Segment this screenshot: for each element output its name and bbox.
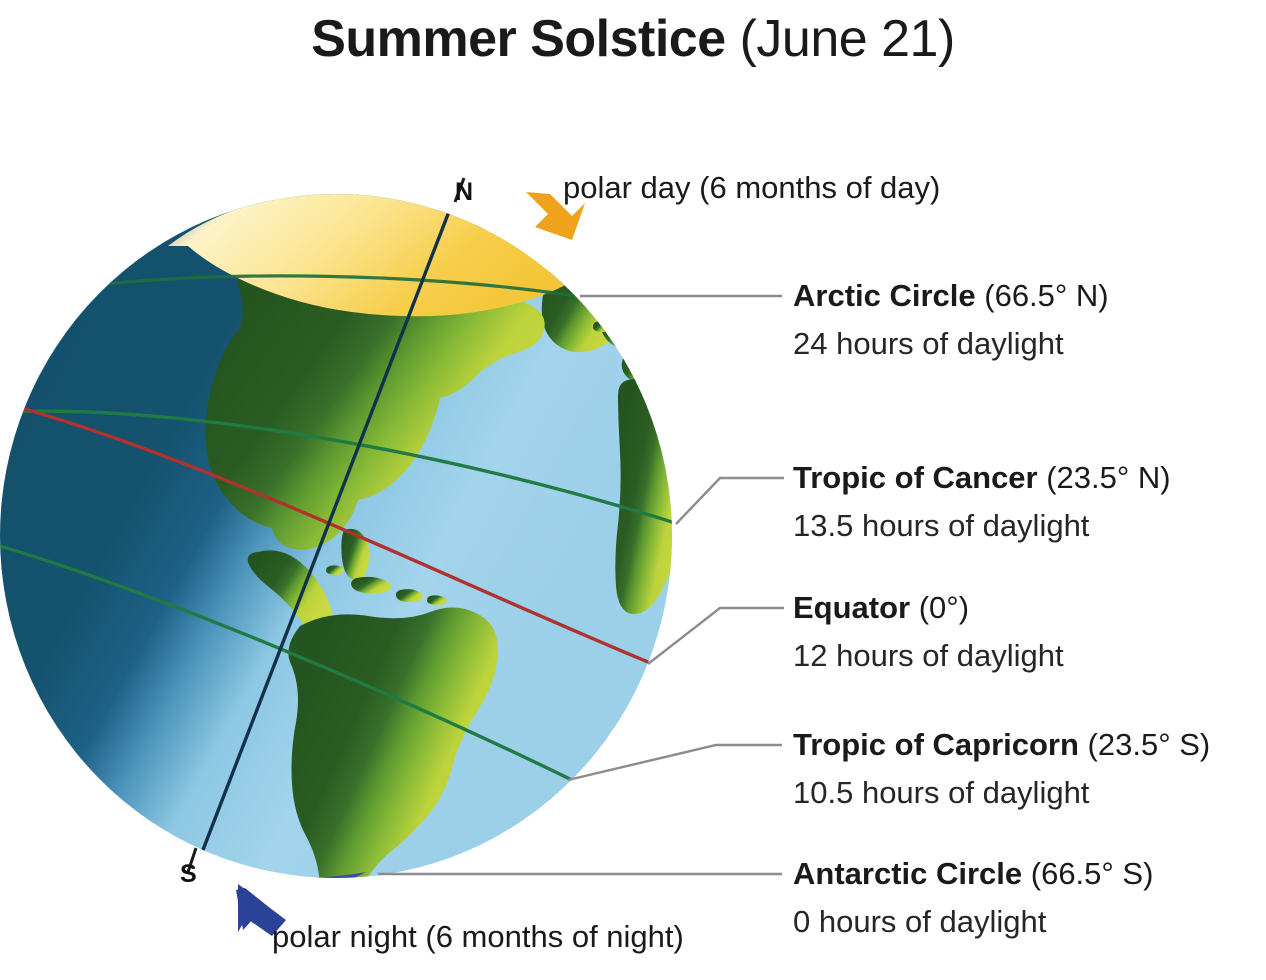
leader-equator [648,608,784,664]
label-tropic-of-capricorn: Tropic of Capricorn (23.5° S) 10.5 hours… [793,728,1210,810]
label-arctic-circle-coordinate: (66.5° N) [976,278,1109,313]
label-tropic-of-capricorn-coordinate: (23.5° S) [1079,727,1210,762]
label-tropic-of-cancer-daylight: 13.5 hours of daylight [793,509,1171,543]
label-tropic-of-cancer-title: Tropic of Cancer (23.5° N) [793,461,1171,495]
label-equator-daylight: 12 hours of daylight [793,639,1064,673]
label-arctic-circle-name: Arctic Circle [793,278,976,313]
label-arctic-circle-title: Arctic Circle (66.5° N) [793,279,1109,313]
label-tropic-of-cancer-coordinate: (23.5° N) [1038,460,1171,495]
label-tropic-of-capricorn-name: Tropic of Capricorn [793,727,1079,762]
label-antarctic-circle-coordinate: (66.5° S) [1022,856,1153,891]
label-arctic-circle-daylight: 24 hours of daylight [793,327,1109,361]
label-antarctic-circle-daylight: 0 hours of daylight [793,905,1153,939]
leader-tropic-of-capricorn [568,745,782,780]
label-tropic-of-cancer: Tropic of Cancer (23.5° N) 13.5 hours of… [793,461,1171,543]
south-pole-label: S [180,860,197,889]
label-antarctic-circle-name: Antarctic Circle [793,856,1022,891]
label-arctic-circle: Arctic Circle (66.5° N) 24 hours of dayl… [793,279,1109,361]
label-equator: Equator (0°) 12 hours of daylight [793,591,1064,673]
label-equator-coordinate: (0°) [910,590,969,625]
label-tropic-of-cancer-name: Tropic of Cancer [793,460,1038,495]
label-tropic-of-capricorn-title: Tropic of Capricorn (23.5° S) [793,728,1210,762]
label-tropic-of-capricorn-daylight: 10.5 hours of daylight [793,776,1210,810]
label-equator-title: Equator (0°) [793,591,1064,625]
solstice-diagram: Summer Solstice (June 21) [0,0,1266,980]
leader-tropic-of-cancer [676,478,784,524]
label-equator-name: Equator [793,590,910,625]
label-antarctic-circle: Antarctic Circle (66.5° S) 0 hours of da… [793,857,1153,939]
north-pole-label: N [455,178,473,207]
polar-day-caption: polar day (6 months of day) [563,171,940,205]
polar-night-caption: polar night (6 months of night) [272,920,684,954]
label-antarctic-circle-title: Antarctic Circle (66.5° S) [793,857,1153,891]
